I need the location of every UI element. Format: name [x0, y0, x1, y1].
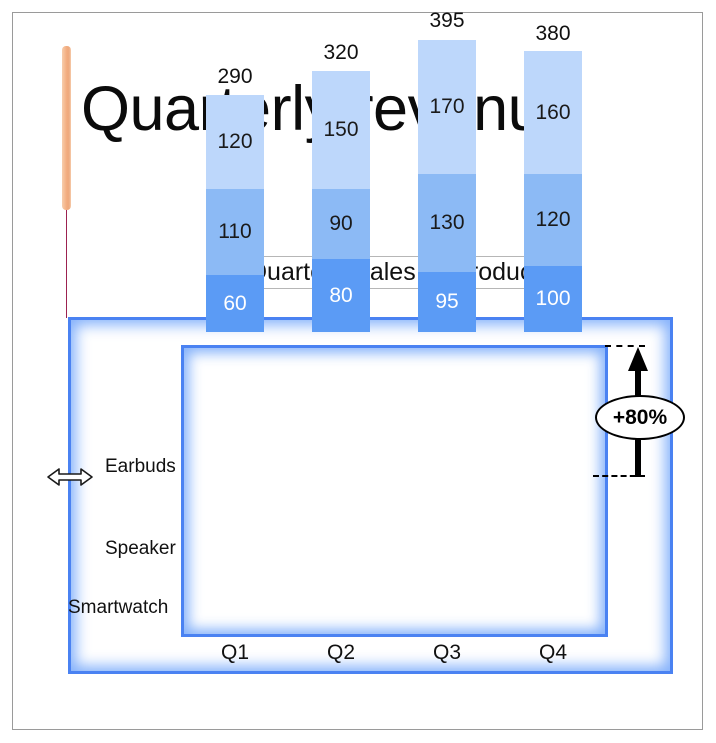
chart-outer-frame[interactable] — [68, 317, 673, 674]
bar-segment-q2-speaker[interactable]: 90 — [312, 189, 370, 259]
bar-segment-q1-smartwatch[interactable]: 60 — [206, 275, 264, 332]
axis-label-q3: Q3 — [418, 641, 476, 665]
bar-segment-q4-speaker[interactable]: 120 — [524, 174, 582, 266]
bar-segment-q4-earbuds[interactable]: 160 — [524, 51, 582, 174]
title-accent-bar — [62, 46, 71, 210]
series-label-speaker: Speaker — [105, 538, 176, 560]
bar-segment-q3-earbuds[interactable]: 170 — [418, 40, 476, 174]
axis-label-q2: Q2 — [312, 641, 370, 665]
bar-segment-q1-earbuds[interactable]: 120 — [206, 95, 264, 189]
bar-segment-q1-speaker[interactable]: 110 — [206, 189, 264, 275]
bar-segment-q4-smartwatch[interactable]: 100 — [524, 266, 582, 332]
horizontal-resize-icon[interactable] — [46, 465, 94, 489]
bar-total-q4: 380 — [524, 22, 582, 46]
connector-line — [66, 210, 67, 318]
series-label-earbuds: Earbuds — [105, 456, 176, 478]
chart-caption-box[interactable]: Quarterly sales by product — [229, 256, 558, 289]
axis-label-q4: Q4 — [524, 641, 582, 665]
bar-segment-q3-speaker[interactable]: 130 — [418, 174, 476, 272]
growth-badge: +80% — [595, 395, 685, 440]
bar-total-q3: 395 — [418, 9, 476, 33]
bar-segment-q3-smartwatch[interactable]: 95 — [418, 272, 476, 332]
series-label-smartwatch: Smartwatch — [68, 597, 168, 619]
bar-segment-q2-earbuds[interactable]: 150 — [312, 71, 370, 189]
bar-segment-q2-smartwatch[interactable]: 80 — [312, 259, 370, 332]
bar-total-q1: 290 — [206, 65, 264, 89]
bar-total-q2: 320 — [312, 41, 370, 65]
axis-label-q1: Q1 — [206, 641, 264, 665]
slide-canvas: Quarterly revenue Quarterly sales by pro… — [12, 12, 703, 730]
